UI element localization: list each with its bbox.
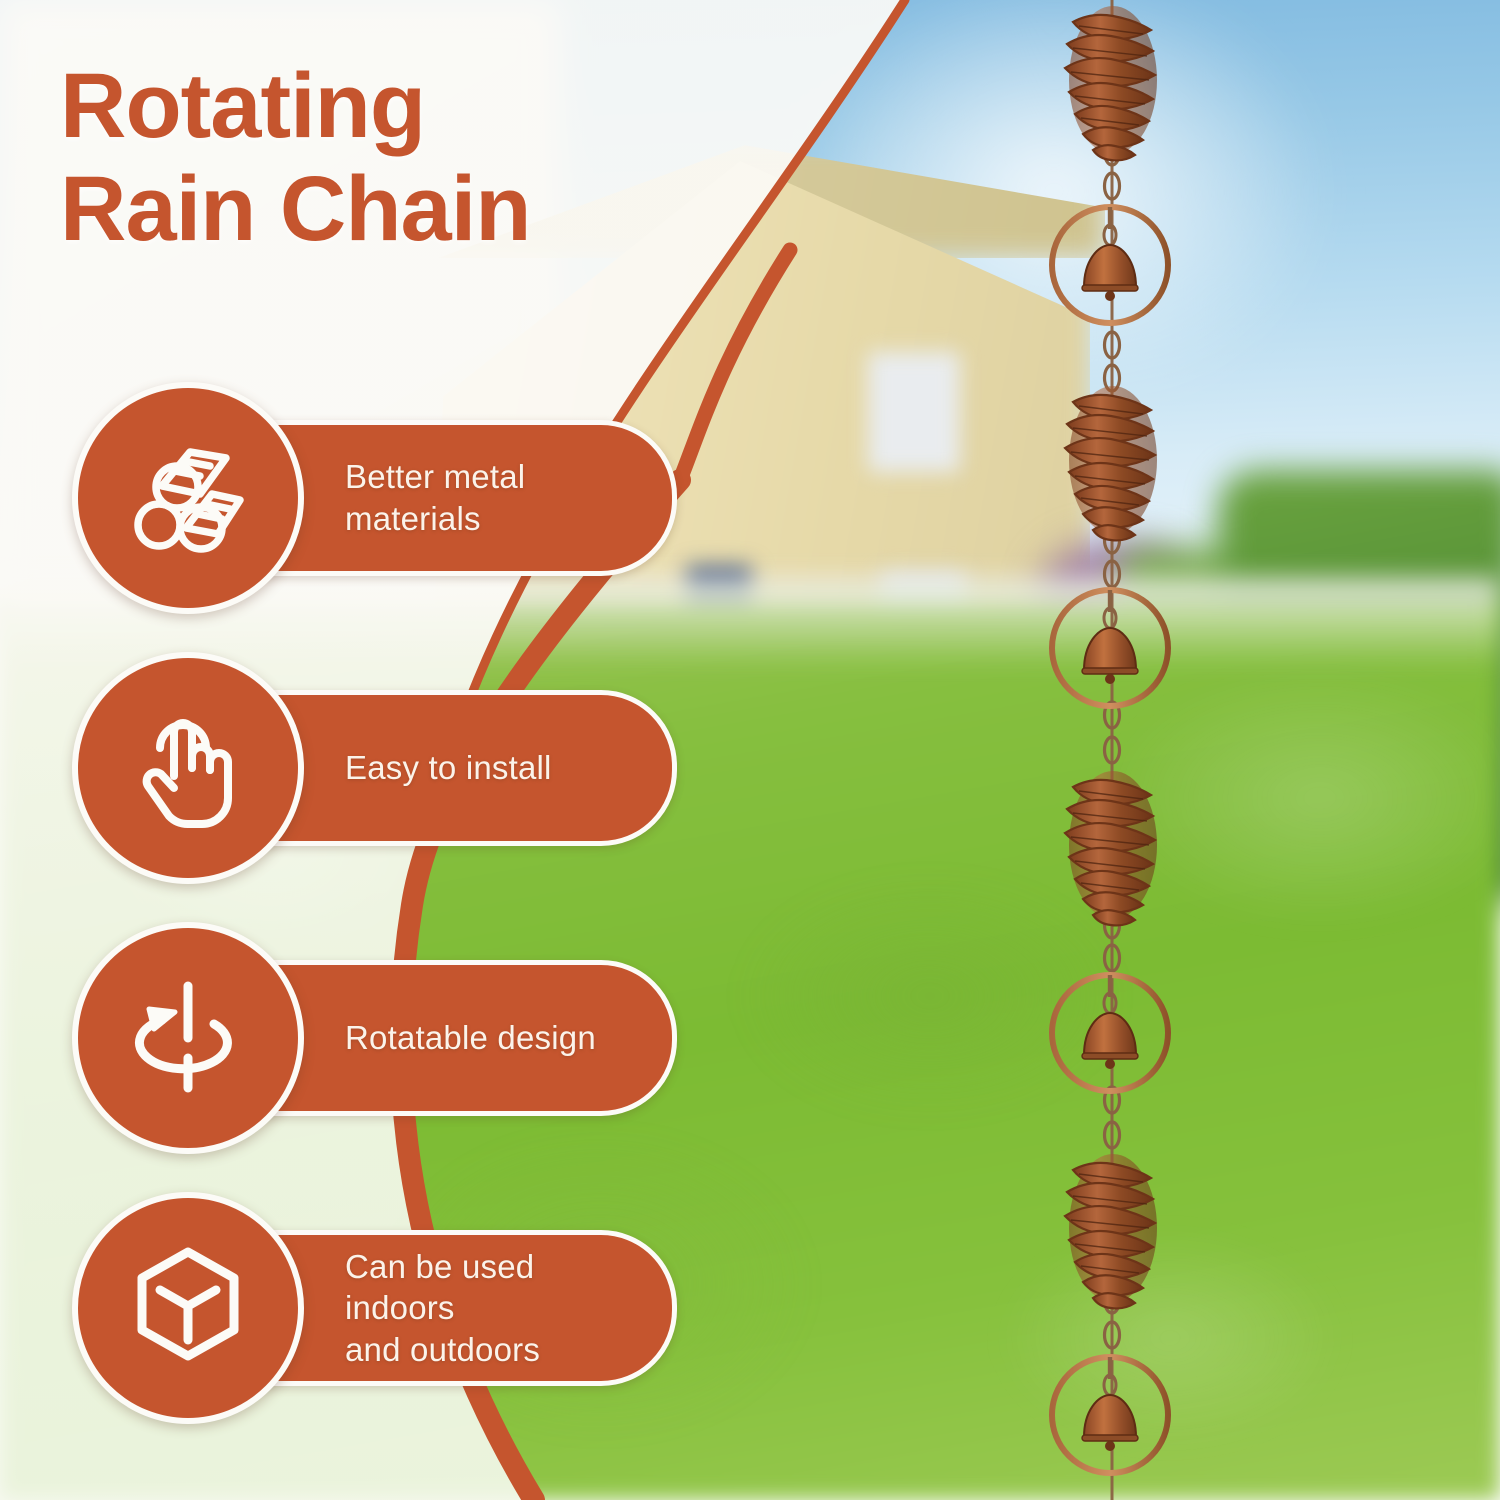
metal-pipes-icon xyxy=(122,432,254,564)
infographic-canvas: Rotating Rain Chain Better metal materia… xyxy=(0,0,1500,1500)
title-line-2: Rain Chain xyxy=(60,158,760,261)
feature-label: Rotatable design xyxy=(345,1017,596,1059)
feature-label: Better metal materials xyxy=(345,456,525,539)
pointing-hand-icon xyxy=(122,702,254,834)
rotation-axis-icon xyxy=(122,972,254,1104)
feature-label-line-1: Easy to install xyxy=(345,747,552,789)
page-title: Rotating Rain Chain xyxy=(60,55,760,261)
feature-icon-badge xyxy=(72,922,304,1154)
cube-box-icon xyxy=(122,1242,254,1374)
house-window-upper xyxy=(868,352,960,472)
feature-item-indoor-outdoor-use: Can be used indoors and outdoors xyxy=(0,1192,720,1412)
feature-label-line-1: Rotatable design xyxy=(345,1017,596,1059)
feature-icon-badge xyxy=(72,382,304,614)
feature-item-easy-to-install: Easy to install xyxy=(0,652,720,872)
feature-label-line-1: Better metal xyxy=(345,456,525,498)
feature-label: Easy to install xyxy=(345,747,552,789)
feature-item-better-metal-materials: Better metal materials xyxy=(0,382,720,602)
feature-label-line-2: and outdoors xyxy=(345,1329,646,1371)
title-line-1: Rotating xyxy=(60,55,760,158)
feature-label: Can be used indoors and outdoors xyxy=(345,1246,646,1371)
feature-label-line-2: materials xyxy=(345,498,525,540)
feature-icon-badge xyxy=(72,652,304,884)
feature-item-rotatable-design: Rotatable design xyxy=(0,922,720,1142)
feature-icon-badge xyxy=(72,1192,304,1424)
feature-label-line-1: Can be used indoors xyxy=(345,1246,646,1329)
